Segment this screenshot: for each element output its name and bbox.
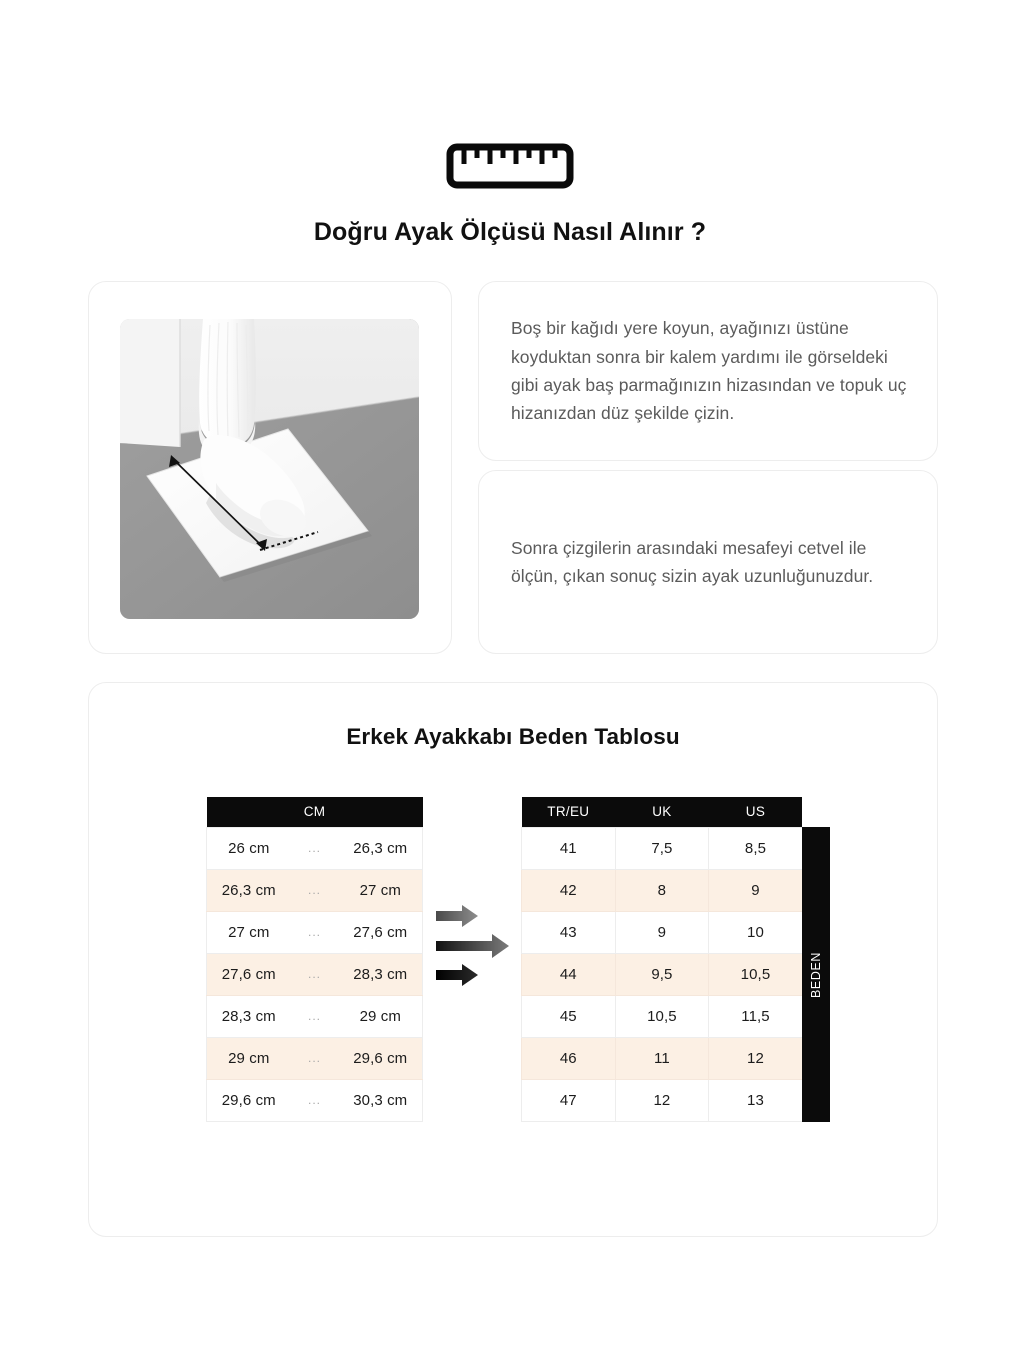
size-uk: 12 [615, 1079, 709, 1121]
cm-from: 27,6 cm [207, 953, 291, 995]
cm-from: 28,3 cm [207, 995, 291, 1037]
size-treu: 44 [522, 953, 616, 995]
cm-from: 26,3 cm [207, 869, 291, 911]
instruction-text-1: Boş bir kağıdı yere koyun, ayağınızı üst… [511, 314, 907, 427]
table-row: 42 8 9 [522, 869, 803, 911]
size-treu: 41 [522, 827, 616, 869]
size-us: 11,5 [709, 995, 803, 1037]
cm-to: 29,6 cm [339, 1037, 423, 1079]
table-row: 41 7,5 8,5 [522, 827, 803, 869]
size-uk: 7,5 [615, 827, 709, 869]
instruction-card-1: Boş bir kağıdı yere koyun, ayağınızı üst… [478, 281, 938, 461]
cm-from: 29 cm [207, 1037, 291, 1079]
size-table-header-uk: UK [615, 797, 709, 827]
size-table-header-us: US [709, 797, 803, 827]
size-chart-card: Erkek Ayakkabı Beden Tablosu CM 26 cm ..… [88, 682, 938, 1237]
ruler-icon [446, 143, 574, 189]
size-conversion-table: TR/EU UK US 41 7,5 8,5 42 8 9 43 [521, 797, 803, 1122]
size-us: 10,5 [709, 953, 803, 995]
cm-separator: ... [291, 1079, 339, 1121]
size-treu: 47 [522, 1079, 616, 1121]
size-table-header-treu: TR/EU [522, 797, 616, 827]
table-row: 27,6 cm ... 28,3 cm [207, 953, 423, 995]
cm-separator: ... [291, 953, 339, 995]
table-row: 26 cm ... 26,3 cm [207, 827, 423, 869]
size-guide-page: Doğru Ayak Ölçüsü Nasıl Alınır ? [0, 0, 1020, 1360]
size-us: 13 [709, 1079, 803, 1121]
table-row: 27 cm ... 27,6 cm [207, 911, 423, 953]
size-treu: 46 [522, 1037, 616, 1079]
cm-separator: ... [291, 995, 339, 1037]
size-chart-title: Erkek Ayakkabı Beden Tablosu [89, 724, 937, 750]
size-uk: 9,5 [615, 953, 709, 995]
size-treu: 43 [522, 911, 616, 953]
cm-to: 26,3 cm [339, 827, 423, 869]
cm-to: 27 cm [339, 869, 423, 911]
beden-side-label: BEDEN [802, 827, 830, 1122]
cm-table-header-row: CM [207, 797, 423, 827]
cm-to: 29 cm [339, 995, 423, 1037]
size-treu: 45 [522, 995, 616, 1037]
size-uk: 9 [615, 911, 709, 953]
table-row: 29 cm ... 29,6 cm [207, 1037, 423, 1079]
size-uk: 8 [615, 869, 709, 911]
cm-separator: ... [291, 869, 339, 911]
table-row: 28,3 cm ... 29 cm [207, 995, 423, 1037]
arrow-icon-top [436, 905, 478, 927]
size-table-header-row: TR/EU UK US [522, 797, 803, 827]
size-us: 10 [709, 911, 803, 953]
cm-to: 27,6 cm [339, 911, 423, 953]
size-uk: 11 [615, 1037, 709, 1079]
cm-range-table: CM 26 cm ... 26,3 cm 26,3 cm ... 27 cm 2… [206, 797, 423, 1122]
cm-from: 26 cm [207, 827, 291, 869]
arrow-icon-bottom [436, 964, 478, 986]
cm-from: 27 cm [207, 911, 291, 953]
table-row: 29,6 cm ... 30,3 cm [207, 1079, 423, 1121]
size-uk: 10,5 [615, 995, 709, 1037]
table-row: 43 9 10 [522, 911, 803, 953]
size-us: 8,5 [709, 827, 803, 869]
instruction-text-2: Sonra çizgilerin arasındaki mesafeyi cet… [511, 534, 907, 591]
instruction-card-2: Sonra çizgilerin arasındaki mesafeyi cet… [478, 470, 938, 654]
cm-table-header: CM [207, 797, 423, 827]
conversion-arrows [434, 903, 514, 993]
cm-separator: ... [291, 1037, 339, 1079]
foot-measurement-photo [120, 319, 419, 619]
beden-side-label-text: BEDEN [809, 951, 823, 997]
arrow-icon-middle [436, 934, 509, 958]
table-row: 45 10,5 11,5 [522, 995, 803, 1037]
cm-separator: ... [291, 911, 339, 953]
table-row: 46 11 12 [522, 1037, 803, 1079]
ruler-icon-container [0, 143, 1020, 189]
cm-to: 30,3 cm [339, 1079, 423, 1121]
page-title: Doğru Ayak Ölçüsü Nasıl Alınır ? [0, 218, 1020, 247]
size-treu: 42 [522, 869, 616, 911]
cm-from: 29,6 cm [207, 1079, 291, 1121]
cm-to: 28,3 cm [339, 953, 423, 995]
size-us: 12 [709, 1037, 803, 1079]
table-row: 47 12 13 [522, 1079, 803, 1121]
size-us: 9 [709, 869, 803, 911]
table-row: 44 9,5 10,5 [522, 953, 803, 995]
table-row: 26,3 cm ... 27 cm [207, 869, 423, 911]
foot-measurement-photo-card [88, 281, 452, 654]
cm-separator: ... [291, 827, 339, 869]
